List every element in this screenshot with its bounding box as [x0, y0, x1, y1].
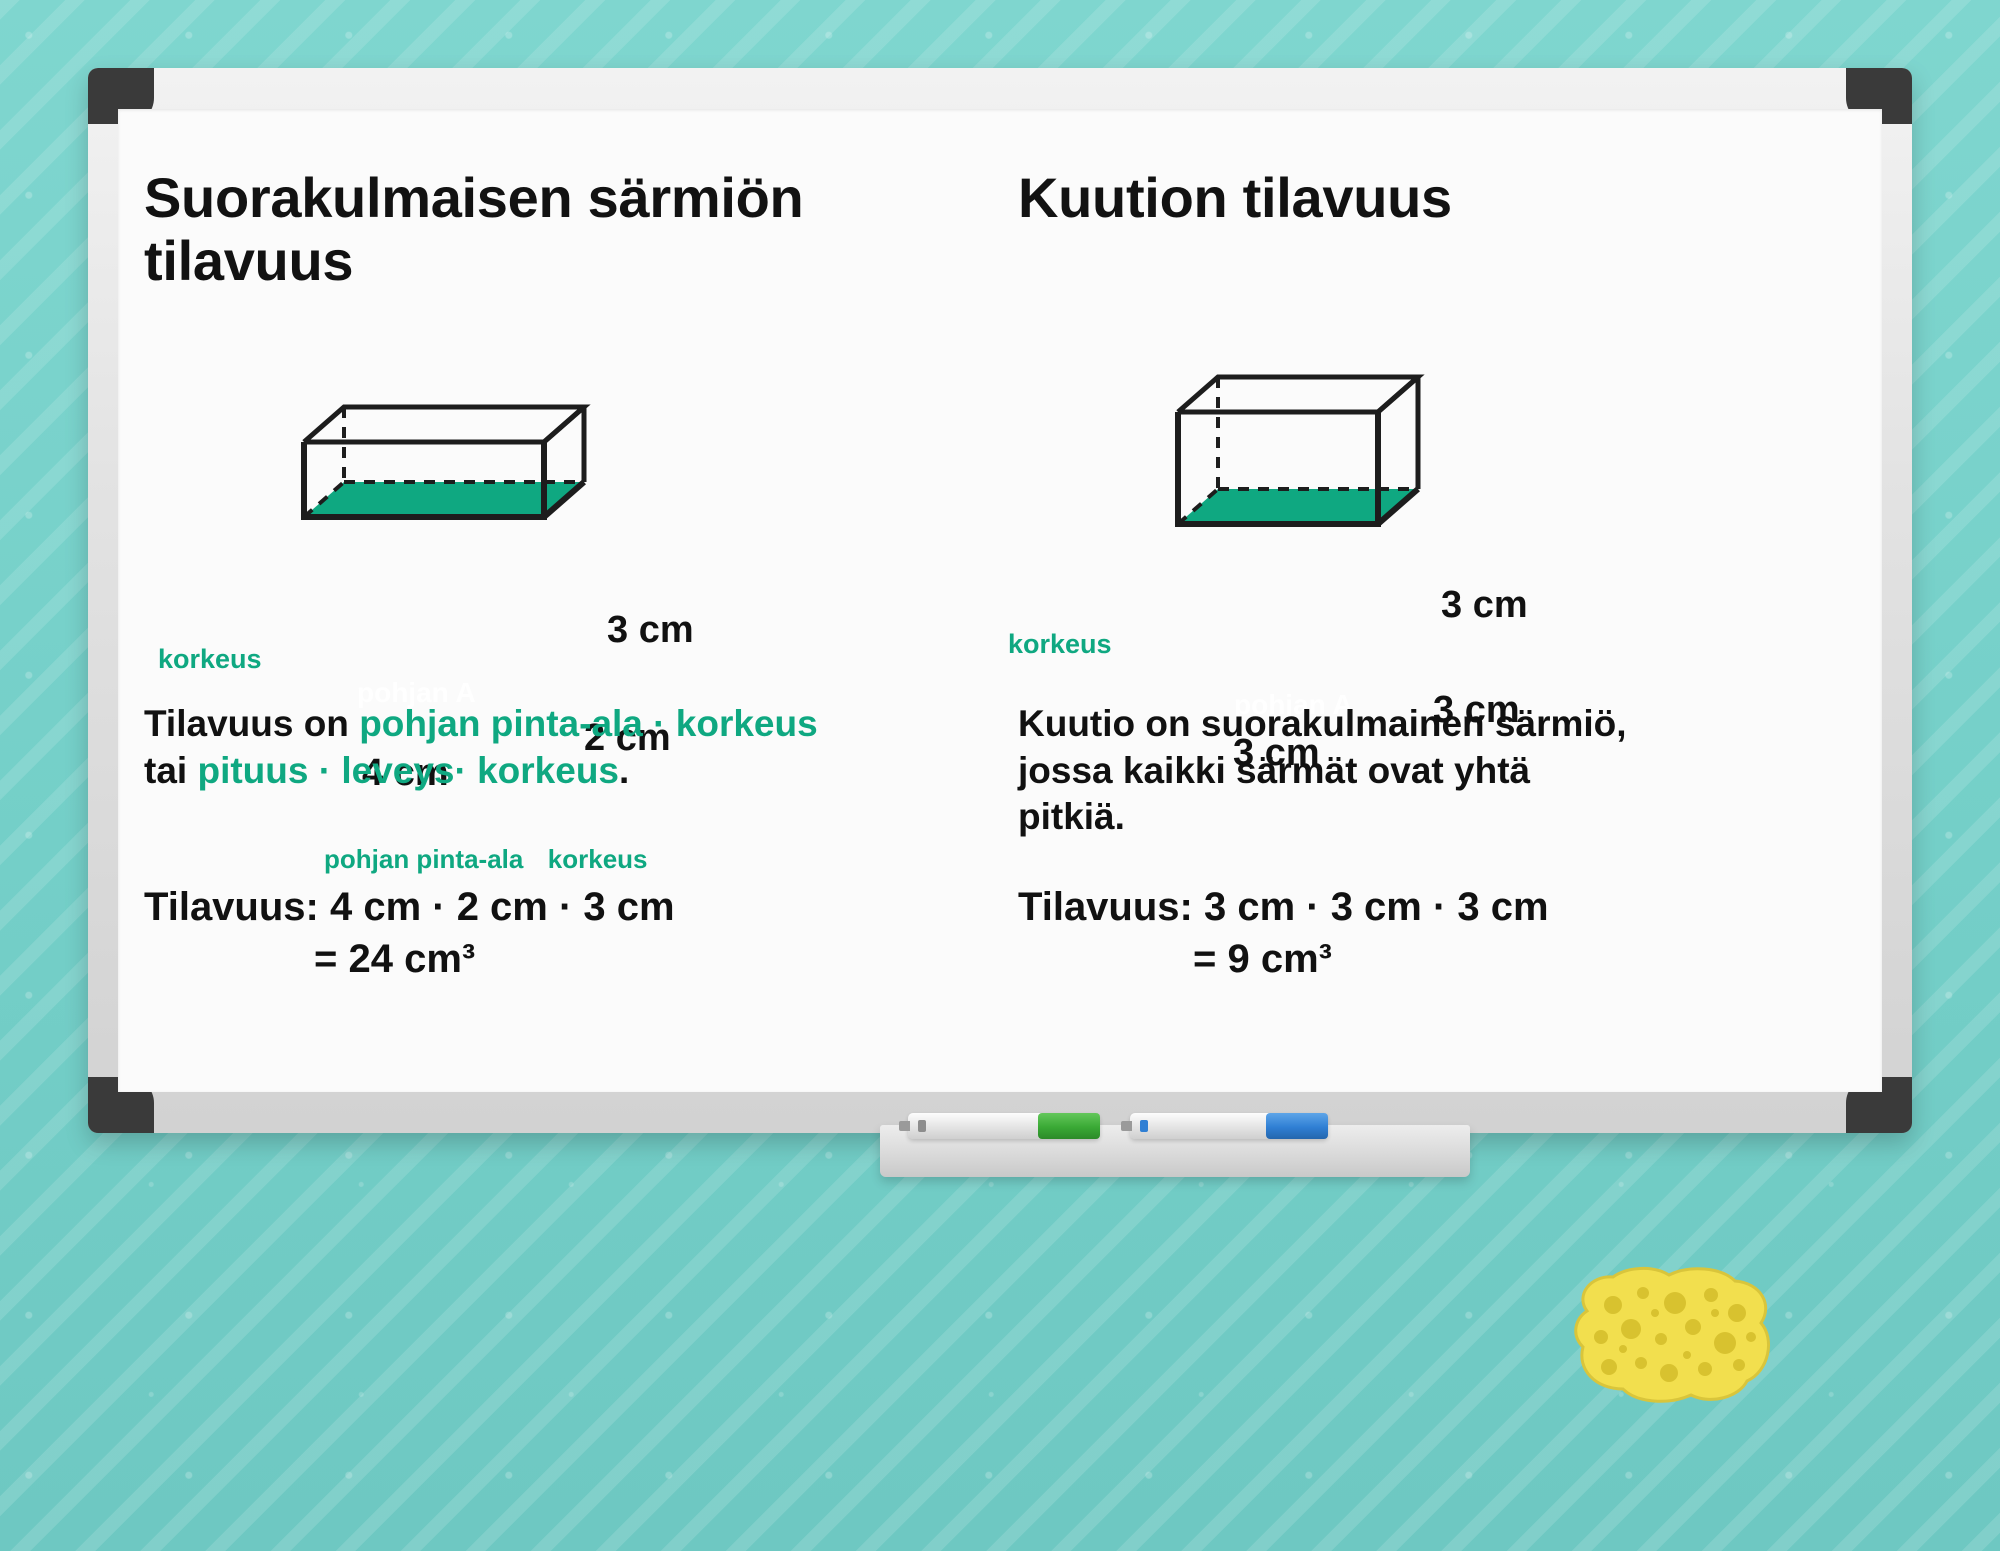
left-calculation-line2: = 24 cm³: [144, 933, 974, 985]
marker-tray: [880, 1125, 1470, 1177]
right-description-line3: pitkiä.: [1018, 794, 1818, 841]
left-desc-line1-teal: pohjan pinta-ala · korkeus: [359, 703, 817, 744]
prism-right-top-edge: [544, 407, 584, 442]
left-desc-line2-post: .: [619, 750, 629, 791]
left-desc-line2-teal: pituus · leveys· korkeus: [197, 750, 619, 791]
left-desc-line2-pre: tai: [144, 750, 197, 791]
right-description-line2: jossa kaikki särmät ovat yhtä: [1018, 748, 1818, 795]
right-panel-title: Kuution tilavuus: [1018, 167, 1718, 230]
left-description-line1: Tilavuus on pohjan pinta-ala · korkeus: [144, 701, 974, 748]
left-calculation: Tilavuus: 4 cm · 2 cm · 3 cm = 24 cm³: [144, 881, 974, 985]
prism-vertical-dimension: 3 cm: [607, 609, 694, 652]
whiteboard-sponge[interactable]: [1565, 1265, 1780, 1405]
blue-marker-cap: [1266, 1113, 1328, 1139]
sponge-svg: [1565, 1265, 1780, 1405]
left-annotation-row: pohjan pinta-ala korkeus: [324, 844, 964, 875]
right-description-line1: Kuutio on suorakulmainen särmiö,: [1018, 701, 1818, 748]
left-panel-title: Suorakulmaisen särmiön tilavuus: [144, 167, 844, 292]
right-calculation-line1: Tilavuus: 3 cm · 3 cm · 3 cm: [1018, 881, 1818, 933]
left-description-line2: tai pituus · leveys· korkeus.: [144, 748, 974, 795]
cube-svg: [1018, 334, 1848, 654]
green-marker-band: [918, 1120, 926, 1132]
whiteboard: Suorakulmaisen särmiön tilavuus: [88, 68, 1912, 1133]
whiteboard-surface: Suorakulmaisen särmiön tilavuus: [118, 109, 1882, 1092]
blue-whiteboard-marker[interactable]: [1130, 1113, 1328, 1139]
left-calculation-line1: Tilavuus: 4 cm · 2 cm · 3 cm: [144, 881, 974, 933]
cube-right-top-edge: [1378, 377, 1418, 412]
green-marker-tip: [899, 1121, 910, 1131]
prism-height-label: korkeus: [158, 644, 262, 675]
green-marker-cap: [1038, 1113, 1100, 1139]
blue-marker-band: [1140, 1120, 1148, 1132]
rectangular-prism-diagram: korkeus pohjan A 3 cm 2 cm 4 cm: [144, 334, 1034, 634]
cube-diagram: korkeus pohjan A 3 cm 3 cm 3 cm: [1018, 334, 1848, 654]
green-whiteboard-marker[interactable]: [908, 1113, 1100, 1139]
right-calculation: Tilavuus: 3 cm · 3 cm · 3 cm = 9 cm³: [1018, 881, 1818, 985]
left-desc-line1-pre: Tilavuus on: [144, 703, 359, 744]
blue-marker-tip: [1121, 1121, 1132, 1131]
annotation-height-label: korkeus: [548, 844, 648, 874]
annotation-base-area-label: pohjan pinta-ala: [324, 844, 523, 874]
left-description: Tilavuus on pohjan pinta-ala · korkeus t…: [144, 701, 974, 794]
cube-vertical-dimension: 3 cm: [1441, 584, 1528, 627]
right-description: Kuutio on suorakulmainen särmiö, jossa k…: [1018, 701, 1818, 841]
right-calculation-line2: = 9 cm³: [1018, 933, 1818, 985]
prism-svg: [144, 334, 1034, 634]
cube-height-label: korkeus: [1008, 629, 1112, 660]
